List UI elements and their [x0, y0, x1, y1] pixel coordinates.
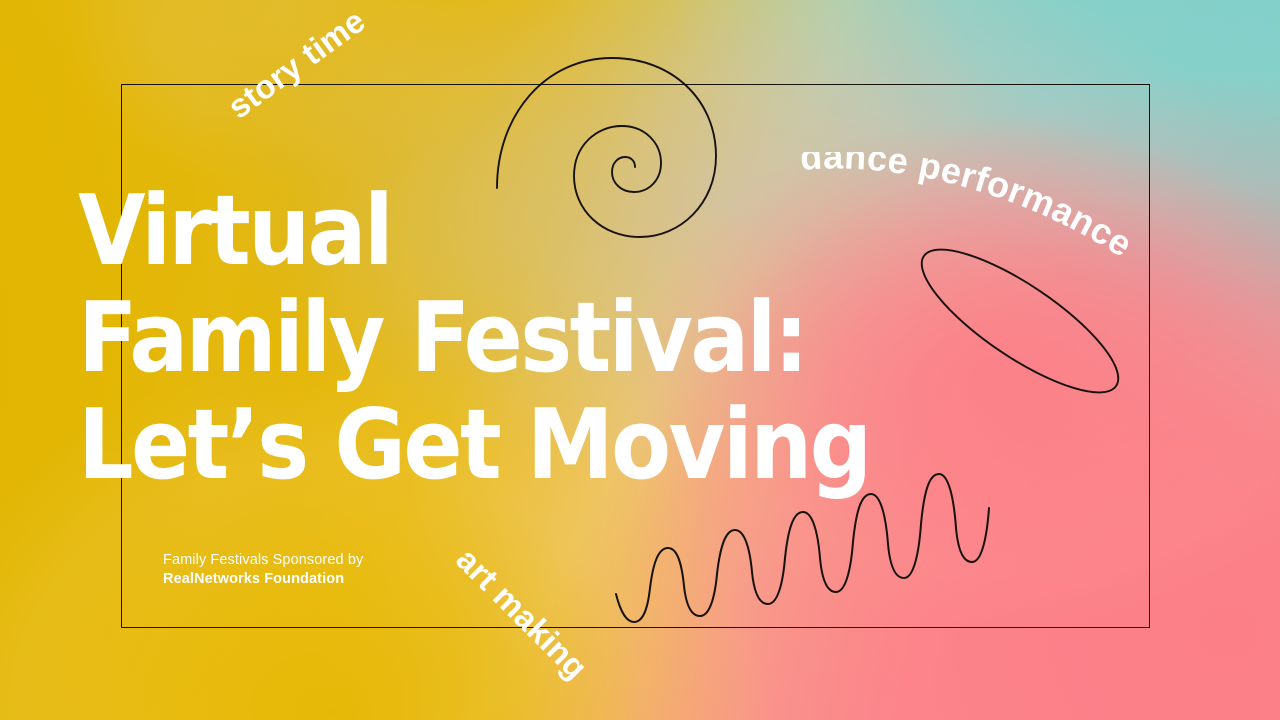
dance-performance-text: dance performance [799, 152, 1140, 265]
dance-performance-textpath: dance performance [799, 152, 1140, 265]
sponsor-line-1: Family Festivals Sponsored by [163, 551, 363, 570]
title-line-3: Let’s Get Moving [78, 391, 1118, 498]
activity-label-dance-performance: dance performance [795, 152, 1225, 322]
poster-canvas: Virtual Family Festival: Let’s Get Movin… [0, 0, 1280, 720]
sponsor-credit: Family Festivals Sponsored by RealNetwor… [163, 551, 363, 589]
sponsor-line-2: RealNetworks Foundation [163, 570, 363, 589]
